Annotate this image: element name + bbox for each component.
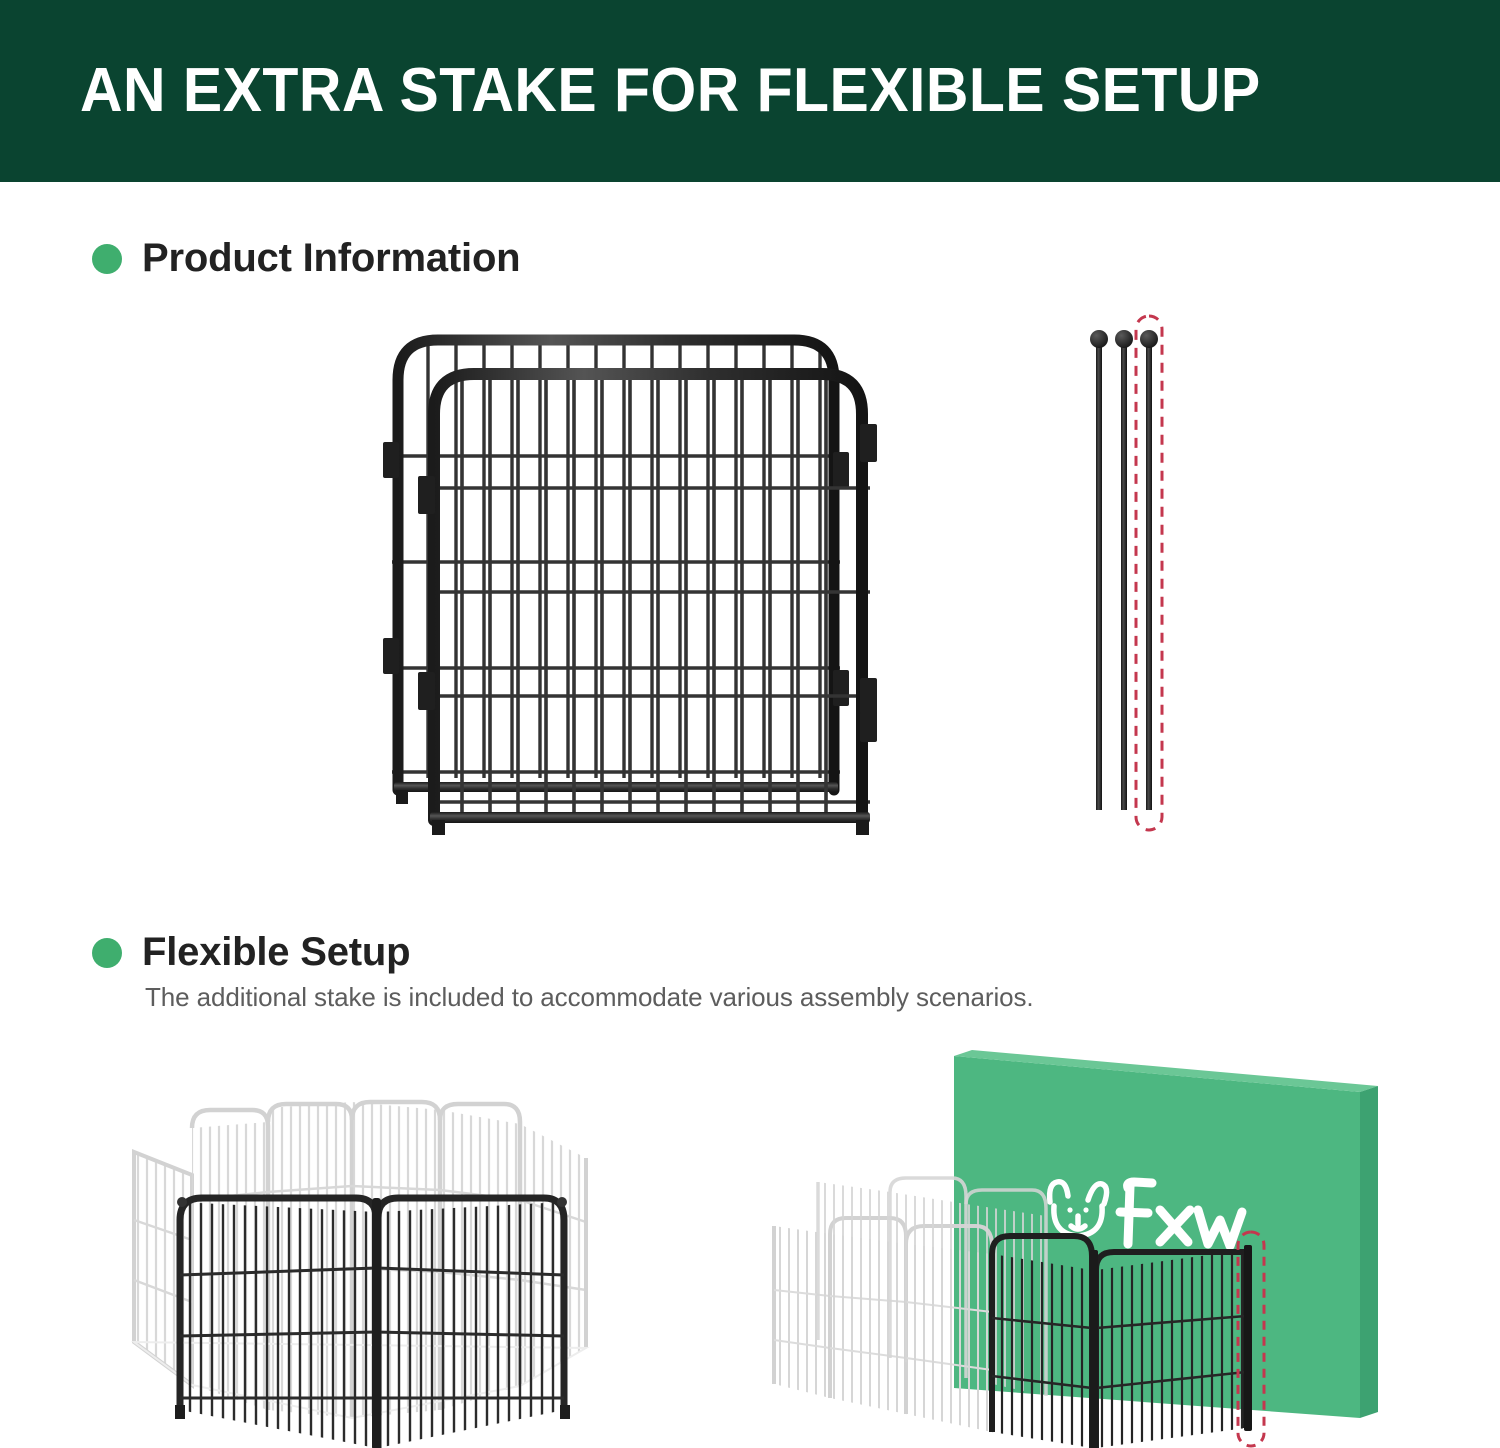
- faded-panel: [890, 1178, 966, 1378]
- hinge-tab-icon: [383, 638, 399, 674]
- front-panel-vertical-wires: [462, 376, 826, 820]
- hinge-tab-icon: [860, 678, 877, 716]
- section-heading-flexible-setup: Flexible Setup: [92, 930, 410, 975]
- active-panel-2: [1096, 1250, 1246, 1448]
- stake-3-highlighted: [1140, 330, 1158, 810]
- hinge-tab-icon: [418, 476, 435, 514]
- section-heading-product-information: Product Information: [92, 236, 520, 281]
- panel-foot: [856, 820, 869, 835]
- page-header-banner: AN EXTRA STAKE FOR FLEXIBLE SETUP: [0, 0, 1500, 182]
- wall-setup-svg: [760, 1040, 1400, 1448]
- octagonal-pen-svg: [100, 1080, 680, 1425]
- active-front-panels: [175, 1197, 570, 1448]
- back-fence-panel: [383, 340, 849, 804]
- hinge-tab-icon: [383, 442, 399, 478]
- section-subtitle: The additional stake is included to acco…: [145, 982, 1034, 1013]
- active-panel-left: [175, 1197, 376, 1448]
- stake-2: [1115, 330, 1133, 810]
- fence-panel-pair-illustration: [370, 320, 890, 850]
- active-panel-right: [378, 1197, 570, 1448]
- wall-side-edge: [1360, 1086, 1378, 1418]
- front-fence-panel: [418, 374, 877, 835]
- bullet-dot-icon: [92, 938, 122, 968]
- hinge-tab-icon: [860, 712, 877, 742]
- corner-post: [1244, 1245, 1252, 1431]
- faded-panel: [818, 1182, 890, 1358]
- ground-stakes-svg: [1060, 310, 1220, 850]
- panel-foot: [396, 790, 408, 804]
- hinge-tab-icon: [833, 670, 849, 706]
- active-wall-panels: [992, 1236, 1252, 1448]
- hinge-tab-icon: [833, 452, 849, 488]
- ground-stakes-illustration: [1060, 310, 1220, 850]
- front-panel-bottom-rail: [430, 812, 870, 823]
- active-panel-1: [992, 1236, 1092, 1448]
- page-title: AN EXTRA STAKE FOR FLEXIBLE SETUP: [80, 60, 1261, 122]
- back-panel-horizontal-rails: [392, 456, 840, 772]
- stake-1: [1090, 330, 1108, 810]
- hinge-tab-icon: [860, 424, 877, 462]
- center-hinge-post: [372, 1198, 381, 1448]
- center-hinge-post: [1090, 1250, 1098, 1448]
- section-title: Flexible Setup: [142, 930, 410, 975]
- bullet-dot-icon: [92, 244, 122, 274]
- hinge-tab-icon: [418, 672, 435, 710]
- octagonal-pen-illustration: [100, 1080, 680, 1425]
- wall-setup-illustration: [760, 1040, 1400, 1448]
- panel-foot: [432, 820, 445, 835]
- fence-panel-pair-svg: [370, 320, 890, 850]
- section-title: Product Information: [142, 236, 520, 281]
